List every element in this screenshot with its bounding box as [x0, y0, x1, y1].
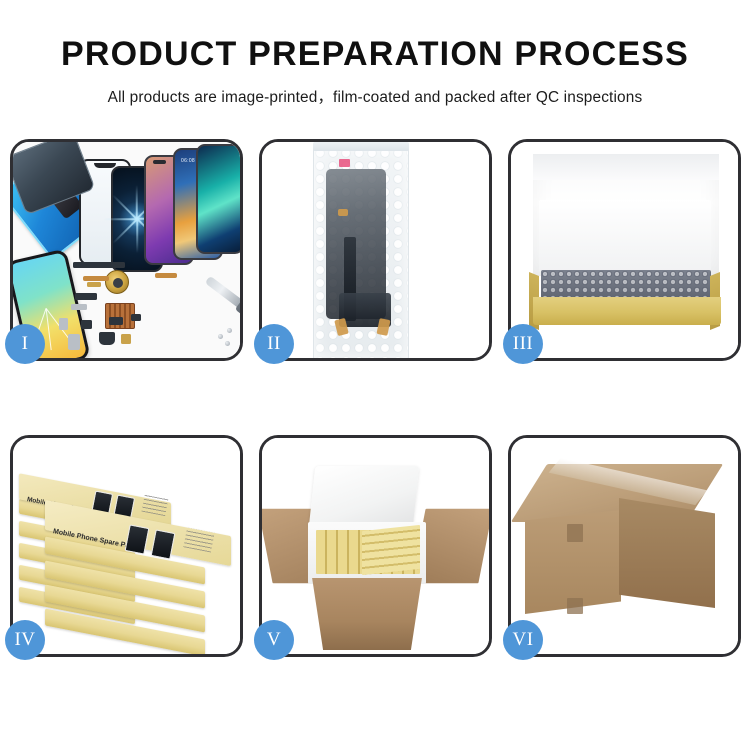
- camera-module-icon: [105, 270, 129, 294]
- step-1-image: 06:08: [13, 142, 240, 358]
- step-panel-4: Mobile Phone Spare Parts Mobile Phone Sp…: [10, 435, 243, 657]
- step-panel-6: Shipping carton taped and sealed, ready …: [508, 435, 741, 657]
- step-4-image: Mobile Phone Spare Parts Mobile Phone Sp…: [13, 438, 240, 654]
- foam-carton-scene: [262, 438, 489, 654]
- product-photo-icon: [125, 524, 150, 554]
- carton-body-icon: [306, 578, 428, 650]
- carton-tab-icon: [567, 524, 583, 542]
- step-3-image: Bubble-wrapped screens placed in kraft t…: [511, 142, 738, 358]
- flex-cable-icon: [83, 276, 109, 281]
- step-badge-2: II: [254, 324, 294, 364]
- teal-phone-icon: [196, 144, 240, 254]
- flex-cable-icon: [155, 273, 177, 278]
- sealed-carton-scene: [511, 438, 738, 654]
- step-5-image: Boxes loaded into a foam-lined shipping …: [262, 438, 489, 654]
- step-panel-5: Boxes loaded into a foam-lined shipping …: [259, 435, 492, 657]
- gold-tape-icon: [338, 209, 348, 216]
- small-part-icon: [81, 320, 92, 329]
- step-panel-1: 06:08: [10, 139, 243, 361]
- small-part-icon: [99, 332, 115, 345]
- stacked-boxes-scene: Mobile Phone Spare Parts Mobile Phone Sp…: [13, 438, 240, 654]
- inner-box-scene: [511, 142, 738, 358]
- small-part-icon: [75, 293, 97, 300]
- step-badge-5: V: [254, 620, 294, 660]
- small-part-icon: [71, 304, 87, 310]
- step-panel-2: LCD screen assembly sealed in a bubble-w…: [259, 139, 492, 361]
- small-part-icon: [131, 314, 141, 321]
- kraft-box-stack: Mobile Phone Spare Parts Mobile Phone Sp…: [15, 452, 239, 648]
- kraft-tray-icon: [533, 297, 721, 325]
- header: PRODUCT PREPARATION PROCESS All products…: [0, 0, 750, 107]
- screw-icon: [218, 334, 223, 339]
- step-badge-4: IV: [5, 620, 45, 660]
- bubble-wrap-scene: [262, 142, 489, 358]
- small-part-icon: [59, 318, 68, 330]
- foam-lid-icon: [309, 466, 420, 528]
- carton-tab-icon: [567, 598, 583, 614]
- bag-seal-icon: [313, 142, 409, 151]
- step-6-image: Shipping carton taped and sealed, ready …: [511, 438, 738, 654]
- pink-tape-icon: [339, 159, 350, 167]
- page-subtitle: All products are image-printed，film-coat…: [0, 85, 750, 107]
- foam-sheet-icon: [539, 200, 711, 272]
- step-2-image: LCD screen assembly sealed in a bubble-w…: [262, 142, 489, 358]
- components-scene: 06:08: [13, 142, 240, 358]
- inner-kraft-boxes-icon: [362, 525, 420, 575]
- sim-tray-icon: [68, 334, 80, 350]
- small-part-icon: [109, 317, 123, 325]
- small-part-icon: [121, 334, 131, 344]
- page-title: PRODUCT PREPARATION PROCESS: [0, 36, 750, 73]
- small-part-icon: [87, 282, 101, 287]
- carton-right-face-icon: [619, 498, 715, 608]
- product-preparation-infographic: PRODUCT PREPARATION PROCESS All products…: [0, 0, 750, 750]
- bubble-wrap-bag-icon: [313, 146, 409, 358]
- small-part-icon: [73, 262, 125, 268]
- product-photo-icon: [151, 529, 176, 559]
- gold-tape-icon: [376, 318, 390, 336]
- step-badge-1: I: [5, 324, 45, 364]
- screw-icon: [227, 328, 232, 333]
- steps-grid: 06:08: [10, 139, 740, 679]
- step-badge-6: VI: [503, 620, 543, 660]
- step-panel-3: Bubble-wrapped screens placed in kraft t…: [508, 139, 741, 361]
- screw-icon: [225, 341, 230, 346]
- step-badge-3: III: [503, 324, 543, 364]
